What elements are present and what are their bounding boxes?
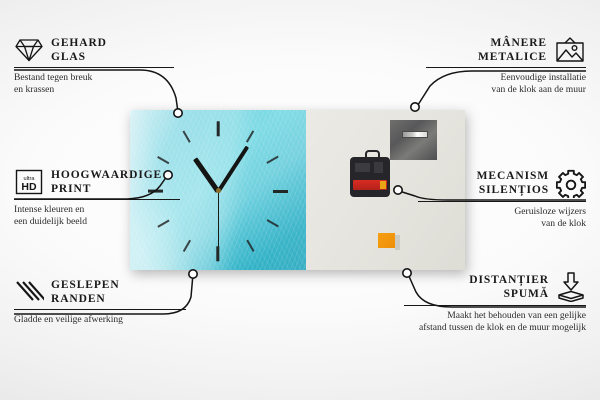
feature-title-line: MÂNERE — [478, 36, 547, 50]
feature-header: GESLEPEN RANDEN — [14, 278, 186, 306]
feature-title: HOOGWAARDIGE PRINT — [51, 168, 162, 196]
picture-frame-icon — [554, 36, 586, 64]
feature-header: MÂNERE METALICE — [426, 36, 586, 64]
feature-title-line: HOOGWAARDIGE — [51, 168, 162, 182]
clock-mechanism — [350, 157, 390, 197]
feature-desc-line: Bestand tegen breuk — [14, 72, 174, 84]
clock-tick — [267, 155, 279, 164]
clock-tick — [182, 130, 191, 142]
feature-title: MECANISM SILENȚIOS — [477, 169, 549, 197]
feature-divider — [14, 199, 180, 200]
feature-title: MÂNERE METALICE — [478, 36, 547, 64]
feature-desc-line: en krassen — [14, 84, 174, 96]
feature-divider — [418, 201, 586, 202]
feature-desc-line: Geruisloze wijzers — [418, 206, 586, 218]
clock-tick — [245, 130, 254, 142]
second-hand — [218, 189, 220, 247]
battery — [353, 180, 387, 190]
feature-header: MECANISM SILENȚIOS — [418, 168, 586, 198]
feature-title-line: SPUMĂ — [469, 287, 549, 301]
feature-geslepen-randen: GESLEPEN RANDEN Gladde en veilige afwerk… — [14, 278, 186, 326]
feature-gehard-glas: GEHARD GLAS Bestand tegen breuk en krass… — [14, 36, 174, 96]
feature-title: GESLEPEN RANDEN — [51, 278, 120, 306]
feature-title-line: MECANISM — [477, 169, 549, 183]
battery-tip — [380, 181, 386, 189]
mechanism-knob — [374, 162, 383, 173]
feature-title-line: PRINT — [51, 182, 162, 196]
ultra-hd-icon: ultra HD — [14, 168, 44, 196]
hour-hand — [193, 157, 220, 193]
feature-description: Maakt het behouden van een gelijke afsta… — [404, 310, 586, 333]
feature-description: Gladde en veilige afwerking — [14, 314, 186, 326]
gear-icon — [556, 168, 586, 198]
feature-description: Eenvoudige installatie van de klok aan d… — [426, 72, 586, 95]
feature-desc-line: een duidelijk beeld — [14, 216, 180, 228]
metal-hanger-icon — [390, 120, 437, 160]
foam-spacer-icon — [556, 272, 586, 302]
feature-title-line: GESLEPEN — [51, 278, 120, 292]
feature-desc-line: afstand tussen de klok en de muur mogeli… — [404, 322, 586, 334]
feature-divider — [426, 67, 586, 68]
feature-desc-line: Eenvoudige installatie — [426, 72, 586, 84]
clock-center-pivot — [216, 188, 221, 193]
foam-spacer — [378, 233, 395, 248]
feature-description: Intense kleuren en een duidelijk beeld — [14, 204, 180, 227]
feature-title-line: GEHARD — [51, 36, 107, 50]
feature-divider — [404, 305, 586, 306]
beveled-edges-icon — [14, 279, 44, 305]
clock-tick — [217, 246, 220, 261]
diamond-icon — [14, 37, 44, 63]
feature-hoogwaardige-print: ultra HD HOOGWAARDIGE PRINT Intense kleu… — [14, 168, 180, 228]
ultra-hd-icon-bottom-text: HD — [21, 181, 37, 193]
mechanism-stem — [365, 150, 380, 161]
feature-title-line: RANDEN — [51, 292, 120, 306]
feature-mecanism-silentios: MECANISM SILENȚIOS Geruisloze wijzers va… — [418, 168, 586, 230]
feature-header: ultra HD HOOGWAARDIGE PRINT — [14, 168, 180, 196]
mechanism-dial — [355, 163, 370, 172]
clock-tick — [273, 190, 288, 193]
feature-title: DISTANȚIER SPUMĂ — [469, 273, 549, 301]
feature-title: GEHARD GLAS — [51, 36, 107, 64]
feature-desc-line: Intense kleuren en — [14, 204, 180, 216]
feature-distantier-spuma: DISTANȚIER SPUMĂ Maakt het behouden van … — [404, 272, 586, 334]
feature-title-line: GLAS — [51, 50, 107, 64]
feature-description: Geruisloze wijzers van de klok — [418, 206, 586, 229]
infographic-stage: GEHARD GLAS Bestand tegen breuk en krass… — [0, 0, 600, 400]
hanger-slot — [402, 131, 428, 138]
clock-tick — [245, 240, 254, 252]
feature-description: Bestand tegen breuk en krassen — [14, 72, 174, 95]
feature-title-line: SILENȚIOS — [477, 183, 549, 197]
feature-title-line: METALICE — [478, 50, 547, 64]
clock-tick — [182, 240, 191, 252]
product-image-group — [130, 110, 465, 270]
feature-header: GEHARD GLAS — [14, 36, 174, 64]
feature-desc-line: van de klok aan de muur — [426, 84, 586, 96]
feature-title-line: DISTANȚIER — [469, 273, 549, 287]
clock-tick — [267, 219, 279, 228]
foam-spacer-shadow — [395, 235, 400, 250]
feature-header: DISTANȚIER SPUMĂ — [404, 272, 586, 302]
connector-dot-edges — [189, 270, 197, 278]
clock-tick — [157, 155, 169, 164]
feature-divider — [14, 309, 186, 310]
feature-desc-line: van de klok — [418, 218, 586, 230]
feature-manere-metalice: MÂNERE METALICE Eenvoudige installatie v… — [426, 36, 586, 96]
minute-hand — [216, 145, 249, 192]
clock-tick — [217, 121, 220, 136]
feature-divider — [14, 67, 174, 68]
feature-desc-line: Gladde en veilige afwerking — [14, 314, 186, 326]
feature-desc-line: Maakt het behouden van een gelijke — [404, 310, 586, 322]
